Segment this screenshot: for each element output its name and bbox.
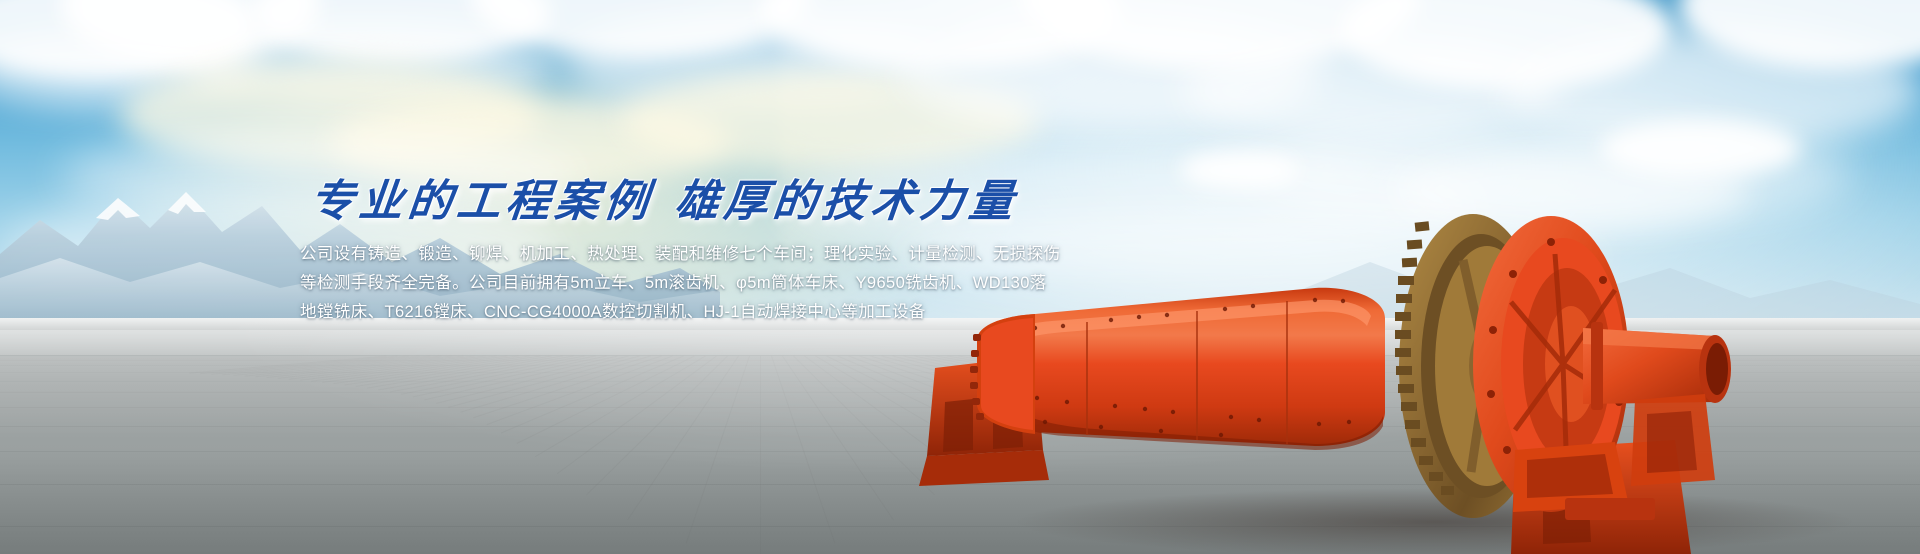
- headline-part-1: 专业的工程案例: [307, 176, 655, 227]
- machine-right-frame: [1631, 394, 1715, 486]
- machine-discharge-spout: [1583, 322, 1731, 410]
- hero-banner: 专业的工程案例雄厚的技术力量 公司设有铸造、锻造、铆焊、机加工、热处理、装配和维…: [0, 0, 1920, 554]
- description-line-2: 等检测手段齐全完备。公司目前拥有5m立车、5m滚齿机、φ5m筒体车床、Y9650…: [300, 269, 1200, 298]
- banner-description: 公司设有铸造、锻造、铆焊、机加工、热处理、装配和维修七个车间；理化实验、计量检测…: [300, 240, 1200, 327]
- description-line-1: 公司设有铸造、锻造、铆焊、机加工、热处理、装配和维修七个车间；理化实验、计量检测…: [300, 240, 1200, 269]
- banner-text-block: 专业的工程案例雄厚的技术力量 公司设有铸造、锻造、铆焊、机加工、热处理、装配和维…: [300, 180, 1200, 327]
- description-line-3: 地镗铣床、T6216镗床、CNC-CG4000A数控切割机、HJ-1自动焊接中心…: [300, 298, 1200, 327]
- banner-headline: 专业的工程案例雄厚的技术力量: [298, 180, 1203, 224]
- headline-part-2: 雄厚的技术力量: [672, 176, 1020, 227]
